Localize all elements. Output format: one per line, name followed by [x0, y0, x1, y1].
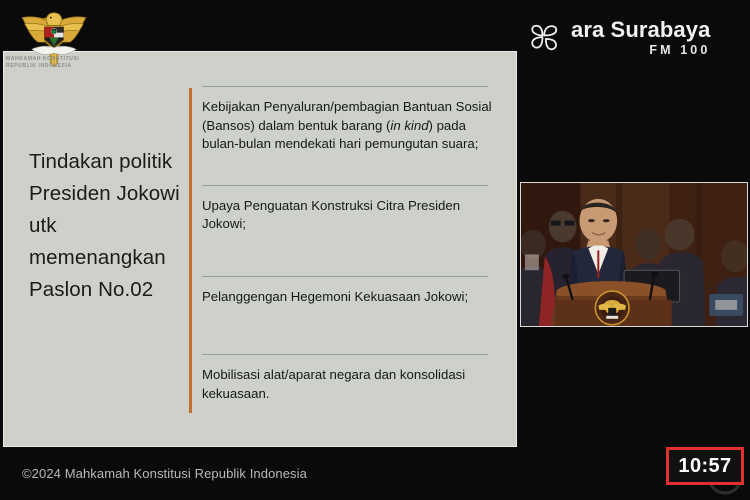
list-item-text: Mobilisasi alat/aparat negara dan konsol… [202, 366, 498, 403]
pinwheel-petals-icon [528, 21, 562, 55]
station-wordmark: ara Surabaya FM 100 [571, 18, 710, 57]
item-separator [202, 185, 488, 186]
station-logo: ara Surabaya FM 100 [528, 18, 710, 57]
copyright-footer: ©2024 Mahkamah Konstitusi Republik Indon… [22, 466, 307, 481]
garuda-podium-emblem [595, 291, 629, 325]
timer-value: 10:57 [678, 455, 731, 478]
slide-content: Tindakan politik Presiden Jokowi utk mem… [4, 52, 516, 446]
list-item-text: Pelanggengan Hegemoni Kekuasaan Jokowi; [202, 288, 498, 307]
spacer [202, 234, 498, 276]
emblem-caption-line1: MAHKAMAH KONSTITUSI [6, 56, 116, 63]
emblem-caption-line2: REPUBLIK INDONESIA [6, 63, 116, 70]
list-item: Kebijakan Penyaluran/pembagian Bantuan S… [202, 86, 498, 154]
item-separator [202, 354, 488, 355]
broadcast-screen: Tindakan politik Presiden Jokowi utk mem… [0, 0, 750, 500]
slide-points-list: Kebijakan Penyaluran/pembagian Bantuan S… [202, 86, 498, 403]
item-separator [202, 86, 488, 87]
list-item: Mobilisasi alat/aparat negara dan konsol… [202, 354, 498, 403]
vertical-accent-divider [189, 88, 192, 413]
courtroom-scene [521, 183, 747, 327]
spacer [202, 154, 498, 185]
spacer [202, 306, 498, 354]
countdown-timer: 10:57 [666, 447, 744, 485]
presentation-slide: Tindakan politik Presiden Jokowi utk mem… [3, 51, 517, 447]
list-item: Upaya Penguatan Konstruksi Citra Preside… [202, 185, 498, 234]
list-item: Pelanggengan Hegemoni Kekuasaan Jokowi; [202, 276, 498, 307]
video-feed-inset[interactable] [520, 182, 748, 327]
station-frequency: FM 100 [571, 43, 710, 57]
item-separator [202, 276, 488, 277]
list-item-text: Upaya Penguatan Konstruksi Citra Preside… [202, 197, 498, 234]
station-name: ara Surabaya [571, 18, 710, 41]
slide-title: Tindakan politik Presiden Jokowi utk mem… [29, 146, 187, 306]
list-item-text: Kebijakan Penyaluran/pembagian Bantuan S… [202, 98, 498, 154]
emblem-caption: MAHKAMAH KONSTITUSI REPUBLIK INDONESIA [6, 56, 116, 70]
